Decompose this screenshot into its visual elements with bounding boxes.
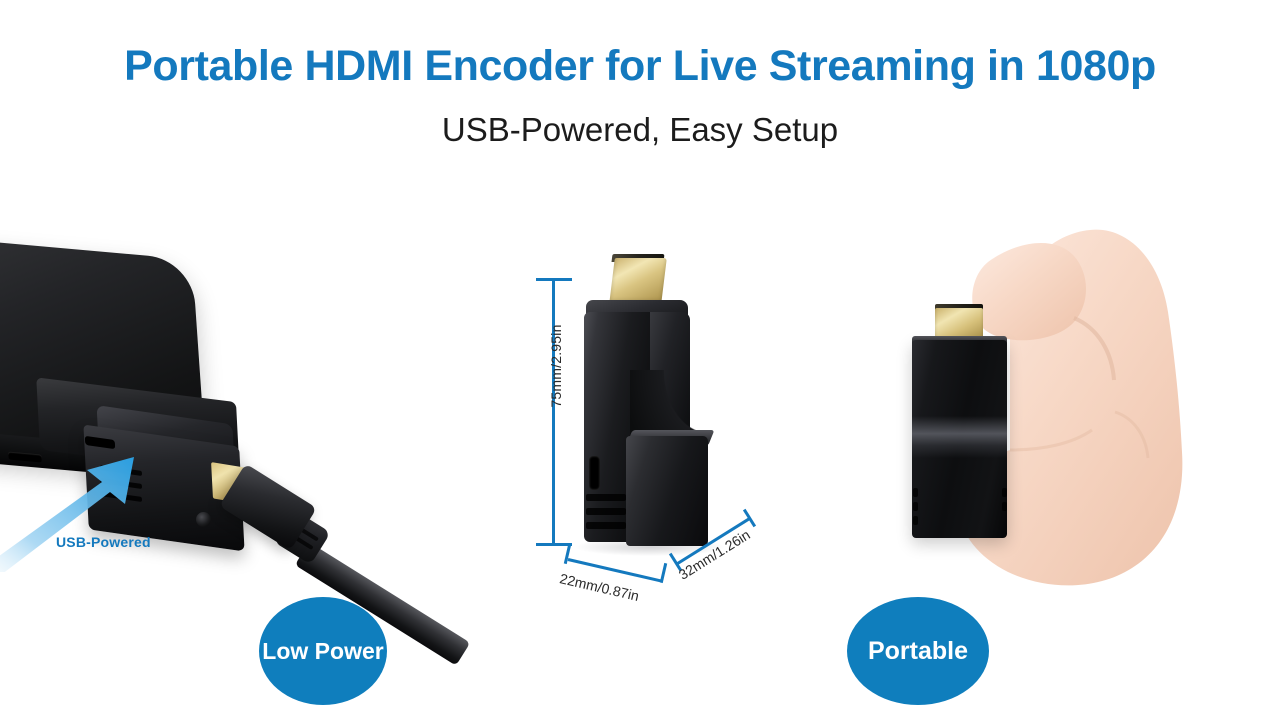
- usb-powered-callout-label: USB-Powered: [56, 534, 151, 550]
- device-base: [626, 436, 708, 546]
- page-subtitle: USB-Powered, Easy Setup: [0, 110, 1280, 150]
- height-dimension-cap-bottom: [536, 543, 572, 546]
- device-notch: [913, 502, 918, 511]
- product-banner: Portable HDMI Encoder for Live Streaming…: [0, 0, 1280, 720]
- height-dimension-label: 75mm/2.95in: [548, 316, 564, 416]
- device-notch: [913, 516, 918, 525]
- page-title: Portable HDMI Encoder for Live Streaming…: [0, 42, 1280, 91]
- device-notch: [1002, 488, 1007, 497]
- left-product-photo: USB-Powered: [0, 240, 430, 640]
- center-dimension-diagram: 75mm/2.95in 22mm/0.87in 32mm/1.26in: [510, 250, 800, 610]
- right-product-photo: [860, 200, 1260, 640]
- badge-low-power: Low Power: [259, 597, 387, 705]
- depth-dimension-cap-right: [743, 509, 756, 528]
- device-notch: [913, 488, 918, 497]
- arrow-up-right-icon: [0, 452, 184, 572]
- width-dimension-label: 22mm/0.87in: [558, 570, 640, 604]
- device-rib: [586, 494, 626, 501]
- device-highlight-band: [912, 416, 1007, 458]
- device-rib: [586, 508, 626, 515]
- device-rib: [586, 522, 626, 529]
- encoder-audio-jack: [196, 512, 211, 527]
- width-dimension-cap-right: [660, 563, 667, 583]
- hdmi-gold-connector: [609, 258, 667, 304]
- device-notch: [1002, 502, 1007, 511]
- device-microusb-port: [589, 456, 600, 490]
- height-dimension-cap-top: [536, 278, 572, 281]
- badge-portable: Portable: [847, 597, 989, 705]
